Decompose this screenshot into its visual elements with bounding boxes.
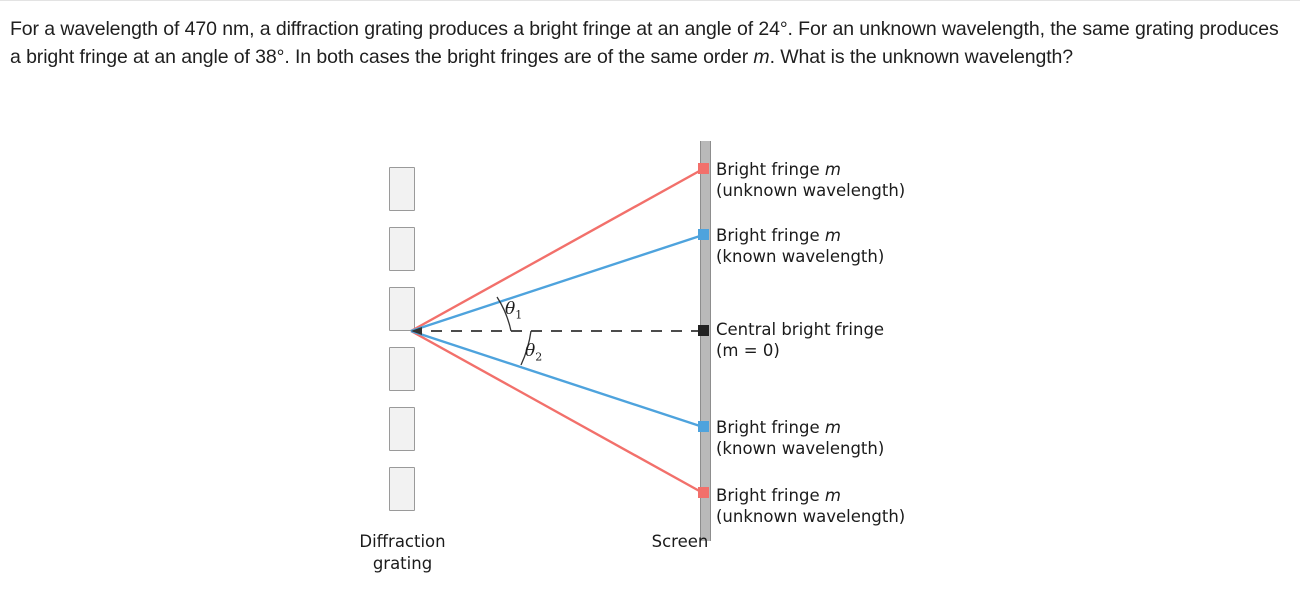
- fringe-caption-text: Bright fringe: [716, 160, 825, 179]
- fringe-caption-text: Bright fringe: [716, 418, 825, 437]
- screen-label: Screen: [620, 531, 740, 553]
- fringe-marker-central: [698, 325, 709, 336]
- fringe-caption-central: Central bright fringe (m = 0): [716, 319, 884, 361]
- fringe-caption-line2: (known wavelength): [716, 438, 884, 459]
- fringe-order-symbol: m: [825, 160, 841, 179]
- grating-label: Diffraction grating: [330, 531, 475, 576]
- theta2-subscript: 2: [535, 350, 542, 363]
- question-text-part2: . What is the unknown wavelength?: [770, 46, 1073, 68]
- grating-label-line1: Diffraction: [330, 531, 475, 553]
- fringe-caption-line1: Bright fringe m: [716, 225, 884, 246]
- grating-label-line2: grating: [330, 553, 475, 575]
- fringe-caption-text: Bright fringe: [716, 226, 825, 245]
- theta2-label: θ2: [525, 341, 542, 363]
- fringe-order-symbol: m: [825, 486, 841, 505]
- question-page: For a wavelength of 470 nm, a diffractio…: [0, 0, 1300, 602]
- fringe-caption-line1: Bright fringe m: [716, 417, 884, 438]
- theta1-subscript: 1: [515, 308, 522, 321]
- fringe-marker-top-known: [698, 229, 709, 240]
- fringe-caption-bottom-known: Bright fringe m (known wavelength): [716, 417, 884, 459]
- fringe-marker-top-unknown: [698, 163, 709, 174]
- screen-label-text: Screen: [620, 531, 740, 553]
- fringe-caption-line2: (unknown wavelength): [716, 506, 905, 527]
- fringe-caption-line1: Bright fringe m: [716, 485, 905, 506]
- question-text: For a wavelength of 470 nm, a diffractio…: [10, 15, 1285, 72]
- fringe-caption-line2: (known wavelength): [716, 246, 884, 267]
- fringe-marker-bottom-known: [698, 421, 709, 432]
- fringe-order-symbol: m: [825, 226, 841, 245]
- fringe-caption-line1: Central bright fringe: [716, 319, 884, 340]
- fringe-caption-line1: Bright fringe m: [716, 159, 905, 180]
- fringe-caption-line2: (unknown wavelength): [716, 180, 905, 201]
- fringe-caption-text: Bright fringe: [716, 486, 825, 505]
- theta1-symbol: θ: [505, 299, 515, 319]
- fringe-caption-line2: (m = 0): [716, 340, 884, 361]
- physics-diagram: θ1 θ2 Bright fringe m (unknown wavelengt…: [0, 131, 1300, 601]
- fringe-caption-top-known: Bright fringe m (known wavelength): [716, 225, 884, 267]
- question-text-part1: For a wavelength of 470 nm, a diffractio…: [10, 18, 1279, 68]
- theta1-label: θ1: [505, 299, 522, 321]
- fringe-caption-bottom-unknown: Bright fringe m (unknown wavelength): [716, 485, 905, 527]
- fringe-caption-top-unknown: Bright fringe m (unknown wavelength): [716, 159, 905, 201]
- question-order-symbol: m: [753, 46, 769, 68]
- theta2-symbol: θ: [525, 341, 535, 361]
- fringe-marker-bottom-unknown: [698, 487, 709, 498]
- fringe-order-symbol: m: [825, 418, 841, 437]
